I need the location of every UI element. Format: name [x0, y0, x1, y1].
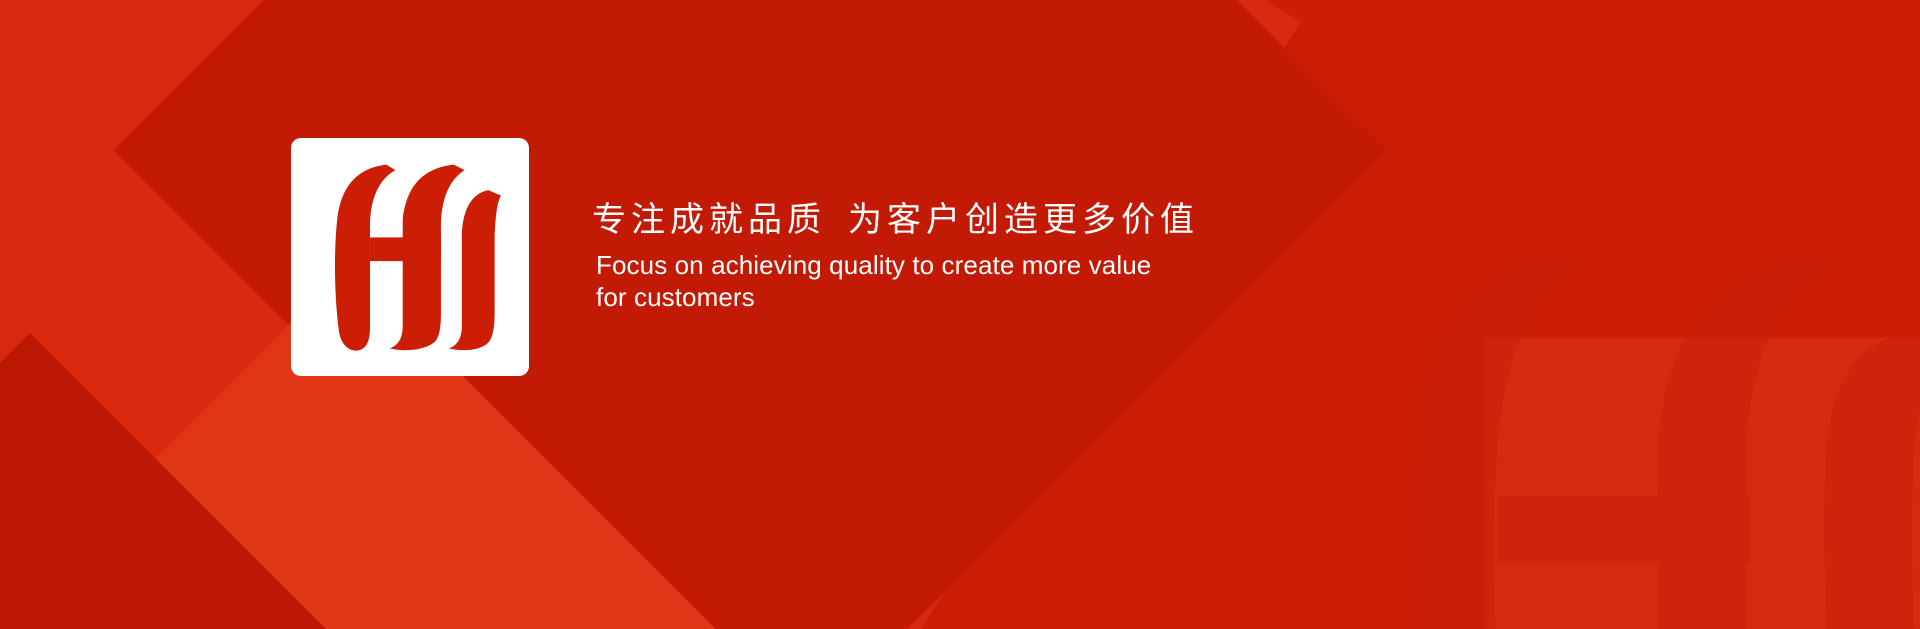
banner-subtitle: Focus on achieving quality to create mor…	[596, 250, 1236, 313]
company-logo-mark-icon	[319, 159, 501, 355]
banner-text-block: 专注成就品质为客户创造更多价值 Focus on achieving quali…	[592, 200, 1292, 314]
headline-part-two: 为客户创造更多价值	[848, 201, 1199, 239]
subtitle-line-two: for customers	[596, 282, 1236, 314]
subtitle-line-one: Focus on achieving quality to create mor…	[596, 250, 1236, 282]
banner-content: 专注成就品质为客户创造更多价值 Focus on achieving quali…	[0, 0, 1920, 629]
banner-headline: 专注成就品质为客户创造更多价值	[592, 200, 1292, 240]
company-logo-tile	[291, 138, 529, 376]
hero-banner: 专注成就品质为客户创造更多价值 Focus on achieving quali…	[0, 0, 1920, 629]
headline-part-one: 专注成就品质	[592, 201, 826, 239]
